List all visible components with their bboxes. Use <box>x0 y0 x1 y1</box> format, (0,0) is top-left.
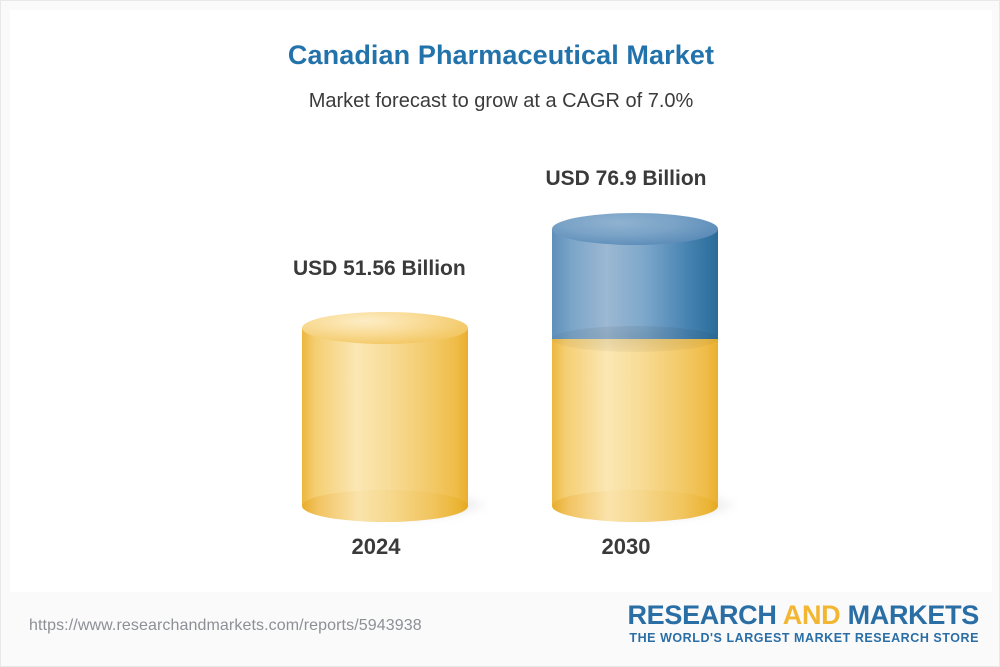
cylinder-side <box>552 229 718 339</box>
source-url-link[interactable]: https://www.researchandmarkets.com/repor… <box>29 617 422 635</box>
bar-category-label-2030: 2030 <box>543 534 709 560</box>
infographic-canvas: Canadian Pharmaceutical Market Market fo… <box>0 0 1000 667</box>
logo-word-markets: MARKETS <box>848 600 979 630</box>
logo-word-research: RESEARCH <box>627 600 776 630</box>
cylinder-bottom-ellipse <box>552 490 718 522</box>
bar-value-label-2030: USD 76.9 Billion <box>543 167 709 191</box>
bar-segment-growth <box>552 229 718 339</box>
cylinder-top-ellipse <box>552 213 718 245</box>
chart-card: Canadian Pharmaceutical Market Market fo… <box>10 10 992 592</box>
logo-word-and: AND <box>783 600 841 630</box>
logo-wordmark: RESEARCH AND MARKETS <box>627 601 979 629</box>
page-title: Canadian Pharmaceutical Market <box>10 40 992 71</box>
cylinder-top-ellipse <box>302 312 468 344</box>
bar-value-label-2024: USD 51.56 Billion <box>293 257 459 281</box>
page-subtitle: Market forecast to grow at a CAGR of 7.0… <box>10 90 992 113</box>
cylinder-bottom-ellipse <box>302 490 468 522</box>
bar-segment-base <box>552 328 718 506</box>
cylinder-side <box>302 328 468 506</box>
footer: https://www.researchandmarkets.com/repor… <box>1 592 1000 667</box>
bar-2024 <box>302 312 468 522</box>
brand-logo[interactable]: RESEARCH AND MARKETS THE WORLD'S LARGEST… <box>627 601 979 645</box>
cylinder-side <box>552 328 718 506</box>
bar-segment-base <box>302 328 468 506</box>
logo-tagline: THE WORLD'S LARGEST MARKET RESEARCH STOR… <box>627 631 979 645</box>
segment-seam-shading <box>552 326 718 352</box>
bar-2030 <box>552 213 718 522</box>
bar-category-label-2024: 2024 <box>293 534 459 560</box>
